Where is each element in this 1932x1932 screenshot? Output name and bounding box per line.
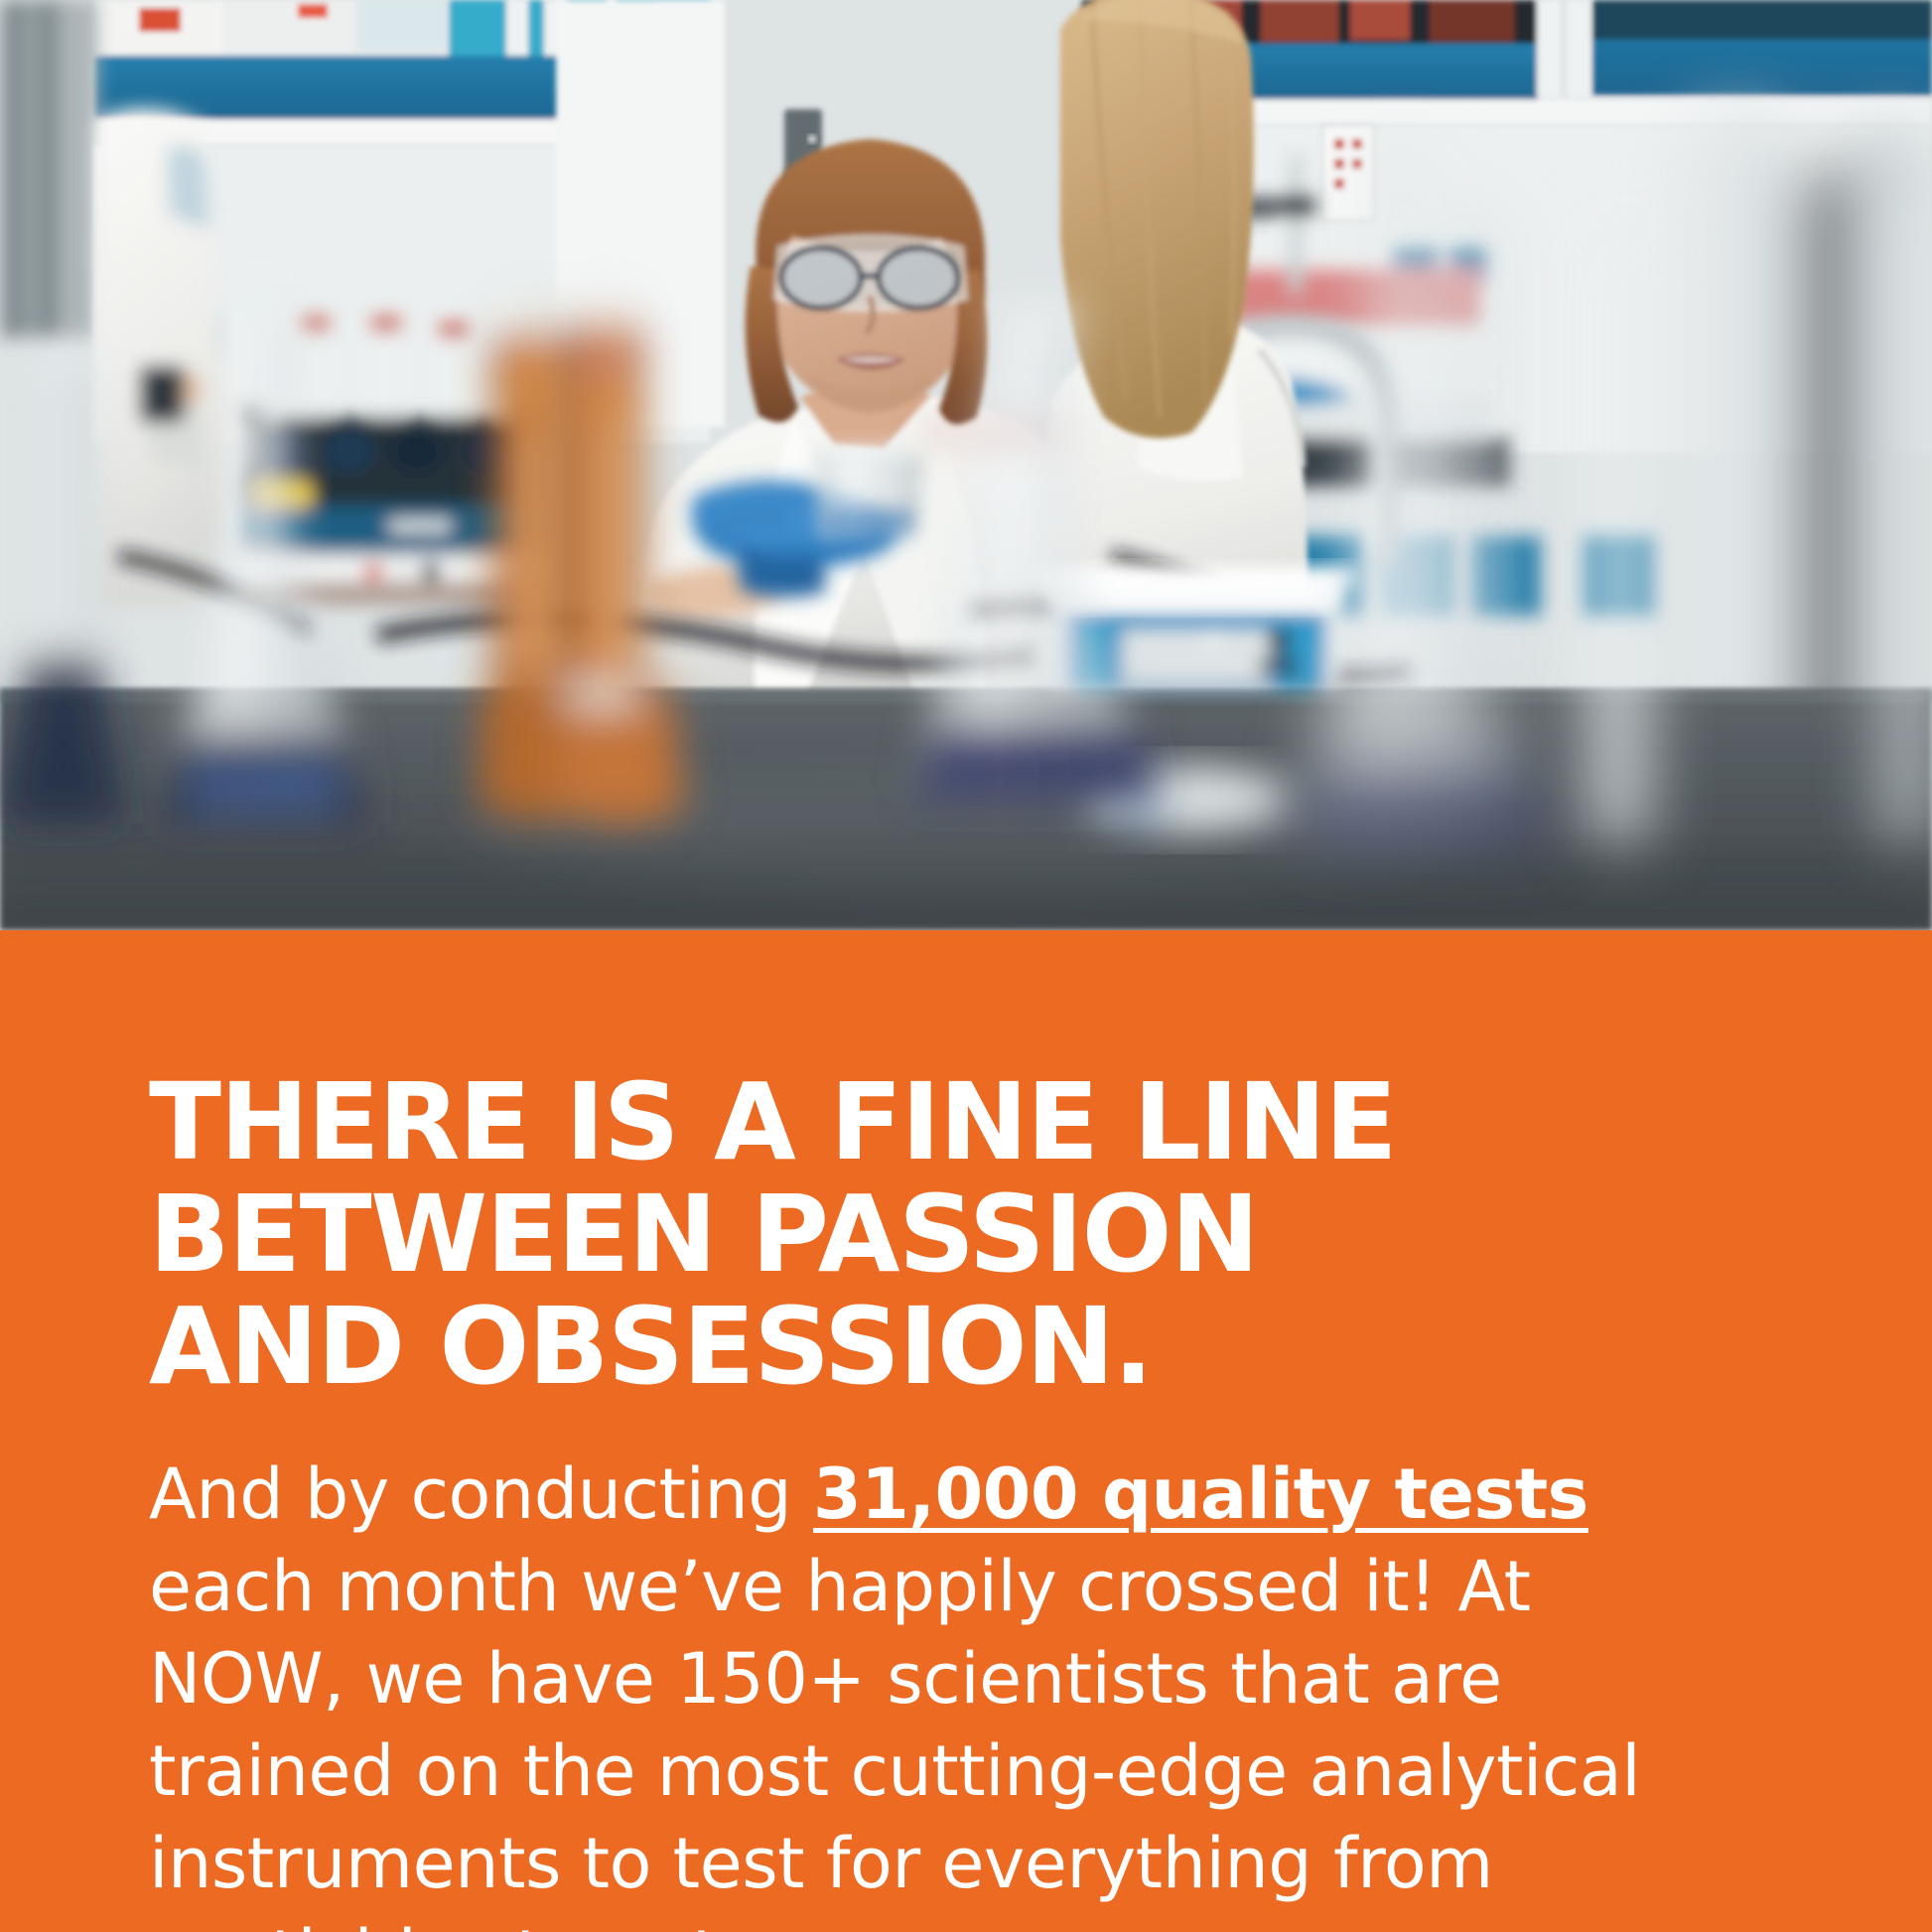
lab-photo: 500 [0, 0, 1932, 930]
orange-text-panel: THERE IS A FINE LINE BETWEEN PASSION AND… [0, 930, 1932, 1932]
body-copy: And by conducting 31,000 quality tests e… [149, 1449, 1737, 1932]
body-lead: And by conducting [149, 1453, 813, 1535]
body-rest: each month we’ve happily crossed it! At … [149, 1546, 1640, 1932]
lab-photo-illustration: 500 [0, 0, 1932, 930]
marketing-poster: 500 [0, 0, 1932, 1932]
stat-highlight: 31,000 quality tests [813, 1453, 1588, 1535]
page-title: THERE IS A FINE LINE BETWEEN PASSION AND… [149, 1067, 1777, 1404]
